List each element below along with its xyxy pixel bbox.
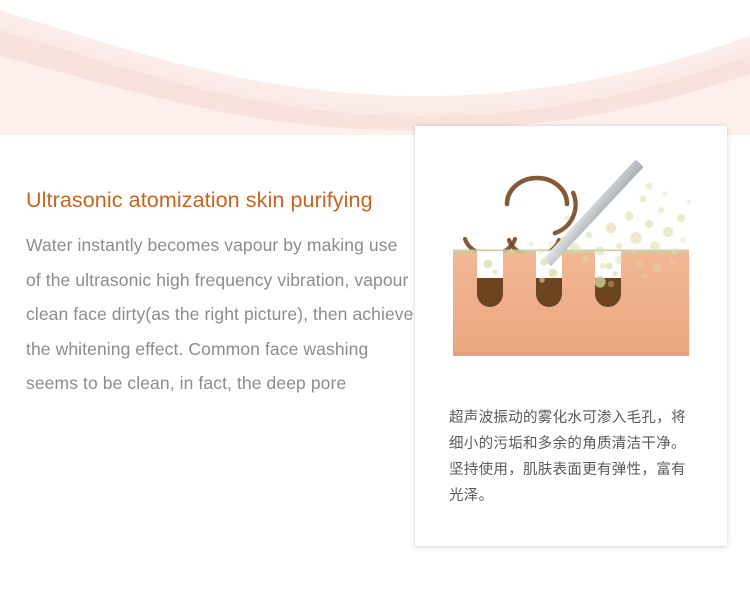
feature-description: Water instantly becomes vapour by making…: [26, 228, 416, 401]
decorative-pink-wave-banner: [0, 0, 750, 135]
feature-text-column: Ultrasonic atomization skin purifying Wa…: [26, 186, 416, 401]
illustration-card: 超声波振动的雾化水可渗入毛孔，将细小的污垢和多余的角质清洁干净。坚持使用，肌肤表…: [415, 126, 727, 546]
dirt-arc-top: [507, 178, 567, 204]
page-title: Ultrasonic atomization skin purifying: [26, 186, 416, 214]
wave-band-soft-top: [0, 10, 750, 116]
wave-band-mid: [0, 26, 750, 135]
wave-band-front: [0, 56, 750, 135]
pore-1: [477, 251, 503, 307]
ultrasonic-pore-cleansing-diagram: [443, 156, 699, 394]
product-feature-page: Ultrasonic atomization skin purifying Wa…: [0, 0, 750, 594]
wave-band-light-back: [0, 18, 750, 135]
skin-bottom-shade: [453, 352, 689, 356]
illustration-caption-chinese: 超声波振动的雾化水可渗入毛孔，将细小的污垢和多余的角质清洁干净。坚持使用，肌肤表…: [449, 405, 699, 509]
